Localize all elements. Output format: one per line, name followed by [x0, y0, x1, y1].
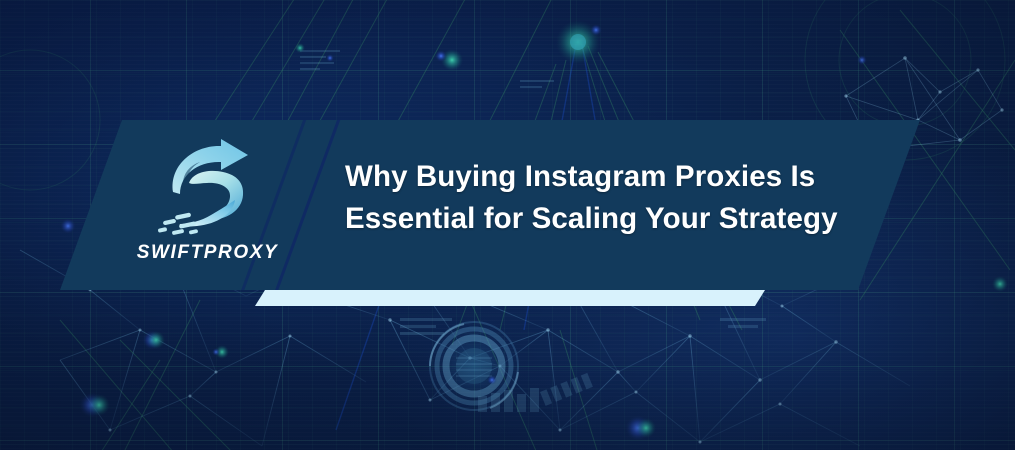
banner-underline-bar [255, 290, 765, 306]
brand-logo: SWIFTPROXY [125, 138, 290, 273]
banner-headline: Why Buying Instagram Proxies Is Essentia… [345, 156, 875, 240]
hero-banner-image: SWIFTPROXY Why Buying Instagram Proxies … [0, 0, 1015, 450]
banner-container: SWIFTPROXY Why Buying Instagram Proxies … [0, 0, 1015, 450]
headline-line-1: Why Buying Instagram Proxies Is [345, 156, 875, 198]
swift-s-arrow-logo-icon [153, 138, 263, 238]
brand-name-text: SWIFTPROXY [137, 242, 279, 264]
headline-line-2: Essential for Scaling Your Strategy [345, 198, 875, 240]
